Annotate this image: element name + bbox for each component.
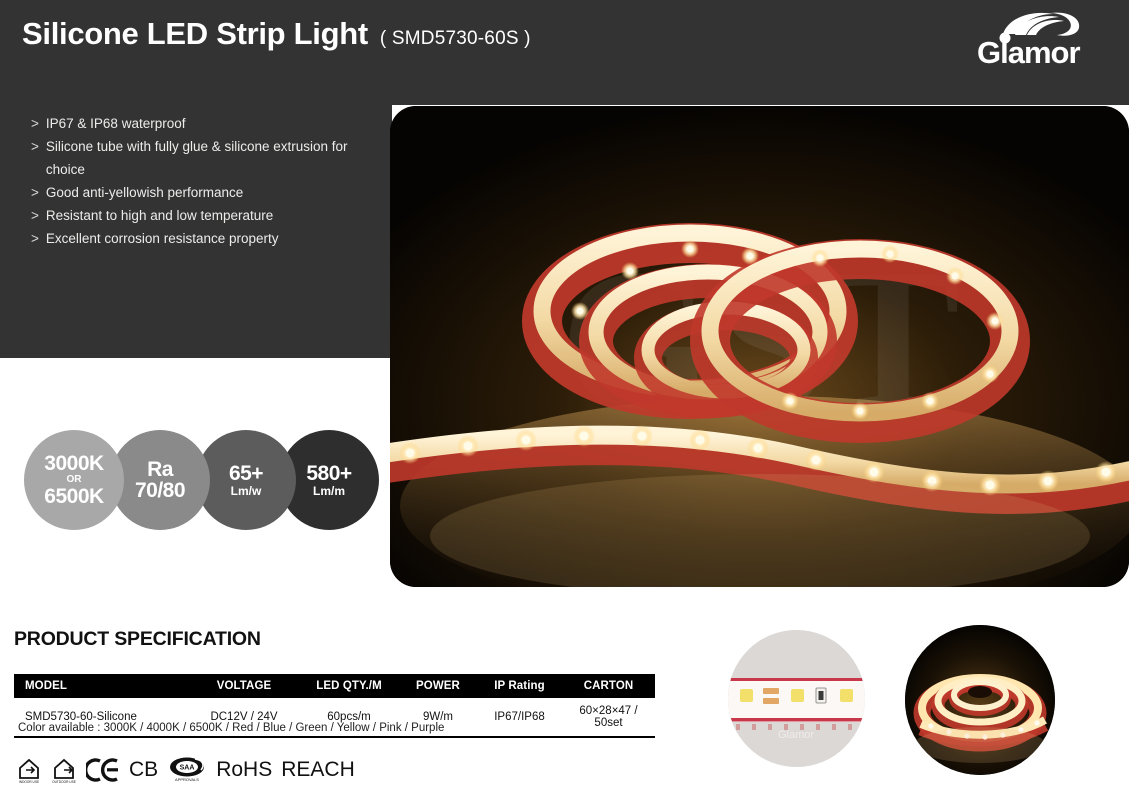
badge-efficacy: 65+ Lm/w [196, 430, 296, 530]
svg-text:APPROVALS: APPROVALS [175, 777, 199, 782]
cell-ip-rating: IP67/IP68 [477, 698, 562, 737]
badge-color-temperature: 3000K OR 6500K [24, 430, 124, 530]
feature-item: > Silicone tube with fully glue & silico… [31, 135, 361, 181]
column-header-power: POWER [399, 674, 477, 698]
cell-carton: 60×28×47 / 50set [562, 698, 655, 737]
feature-label: IP67 & IP68 waterproof [46, 112, 361, 135]
column-header-model: MODEL [14, 674, 189, 698]
brand-logo: Glamor [969, 8, 1097, 70]
badge-line1: Ra [147, 459, 173, 480]
product-model-code: ( SMD5730-60S ) [380, 28, 531, 50]
badge-cri: Ra 70/80 [110, 430, 210, 530]
feature-item: > Excellent corrosion resistance propert… [31, 227, 361, 250]
ce-mark-icon [86, 758, 120, 782]
badge-line2: 6500K [44, 486, 103, 507]
feature-item: > Good anti-yellowish performance [31, 181, 361, 204]
feature-label: Silicone tube with fully glue & silicone… [46, 135, 361, 181]
feature-label: Resistant to high and low temperature [46, 204, 361, 227]
indoor-use-icon: INDOOR USE [16, 756, 42, 784]
feature-item: > IP67 & IP68 waterproof [31, 112, 361, 135]
reach-label: REACH [281, 758, 355, 782]
column-header-ip-rating: IP Rating [477, 674, 562, 698]
product-title: Silicone LED Strip Light [22, 16, 368, 52]
saa-mark-icon: SAA APPROVALS [167, 756, 207, 784]
bullet-marker-icon: > [31, 135, 39, 181]
feature-label: Good anti-yellowish performance [46, 181, 361, 204]
outdoor-use-icon: OUTDOOR USE [51, 756, 77, 784]
feature-list: > IP67 & IP68 waterproof > Silicone tube… [31, 112, 361, 250]
hero-product-image: GST [390, 106, 1129, 587]
badge-line2: 70/80 [135, 480, 185, 501]
table-header-row: MODEL VOLTAGE LED QTY./M POWER IP Rating… [14, 674, 655, 698]
column-header-led-qty: LED QTY./M [299, 674, 399, 698]
bullet-marker-icon: > [31, 227, 39, 250]
spec-badge-group: 3000K OR 6500K Ra 70/80 65+ Lm/w 580+ Lm… [24, 430, 364, 530]
certification-row: INDOOR USE OUTDOOR USE CB SAA APPROVALS … [16, 756, 355, 784]
feature-item: > Resistant to high and low temperature [31, 204, 361, 227]
feature-label: Excellent corrosion resistance property [46, 227, 361, 250]
cb-mark-label: CB [129, 758, 158, 782]
badge-separator: OR [67, 475, 82, 485]
datasheet-page: Silicone LED Strip Light ( SMD5730-60S )… [0, 0, 1129, 793]
svg-text:SAA: SAA [180, 764, 195, 771]
badge-line1: 3000K [44, 453, 103, 474]
badge-line1: 580+ [306, 463, 351, 484]
column-header-voltage: VOLTAGE [189, 674, 299, 698]
strip-closeup-photo: Glamor [728, 630, 865, 767]
bullet-marker-icon: > [31, 112, 39, 135]
page-title: Silicone LED Strip Light ( SMD5730-60S ) [22, 16, 531, 52]
color-availability-note: Color available : 3000K / 4000K / 6500K … [18, 722, 444, 734]
bullet-marker-icon: > [31, 181, 39, 204]
badge-unit: Lm/w [231, 485, 262, 497]
strip-reel-photo [905, 625, 1055, 775]
bullet-marker-icon: > [31, 204, 39, 227]
svg-text:OUTDOOR USE: OUTDOOR USE [52, 780, 76, 784]
svg-text:Glamor: Glamor [977, 35, 1080, 70]
column-header-carton: CARTON [562, 674, 655, 698]
svg-text:Glamor: Glamor [778, 729, 814, 741]
badge-line1: 65+ [229, 463, 263, 484]
spec-section-title: PRODUCT SPECIFICATION [14, 628, 261, 651]
rohs-label: RoHS [216, 758, 272, 782]
badge-unit: Lm/m [313, 485, 345, 497]
svg-text:INDOOR USE: INDOOR USE [19, 780, 39, 784]
